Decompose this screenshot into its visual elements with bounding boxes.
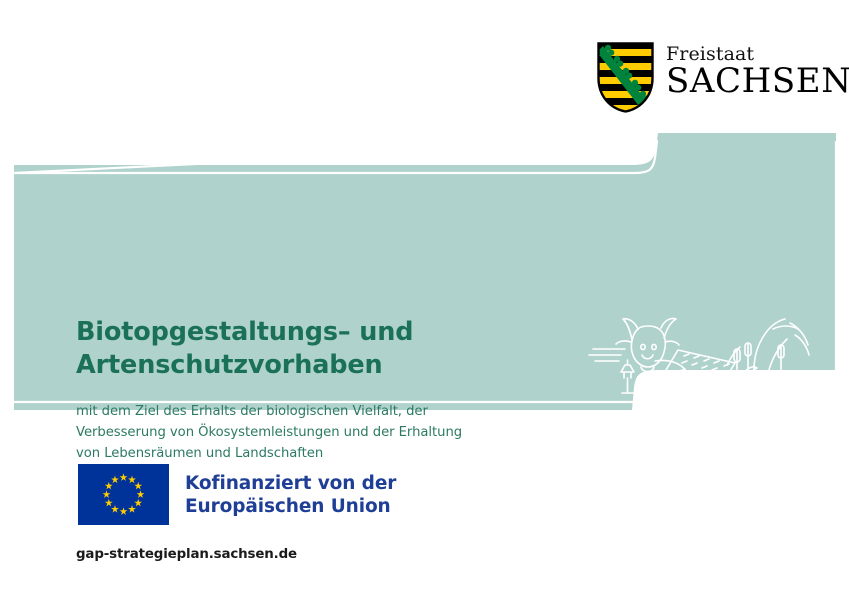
saxony-coat-of-arms-icon [597, 42, 654, 113]
eu-funding-block: Kofinanziert von der Europäischen Union [78, 464, 396, 525]
sachsen-label: SACHSEN [666, 63, 849, 100]
european-union-flag-icon [78, 464, 169, 525]
sachsen-wordmark: Freistaat SACHSEN [666, 42, 849, 100]
page-subtitle: mit dem Ziel des Erhalts der biologische… [76, 401, 506, 464]
freistaat-sachsen-logo: Freistaat SACHSEN [597, 42, 812, 116]
eu-funding-label: Kofinanziert von der Europäischen Union [185, 472, 396, 518]
hero-banner: Biotopgestaltungs– und Artenschutzvorhab… [0, 125, 849, 420]
page-title: Biotopgestaltungs– und Artenschutzvorhab… [76, 316, 506, 382]
banner-text-block: Biotopgestaltungs– und Artenschutzvorhab… [76, 316, 506, 464]
footer-url[interactable]: gap-strategieplan.sachsen.de [76, 547, 297, 562]
